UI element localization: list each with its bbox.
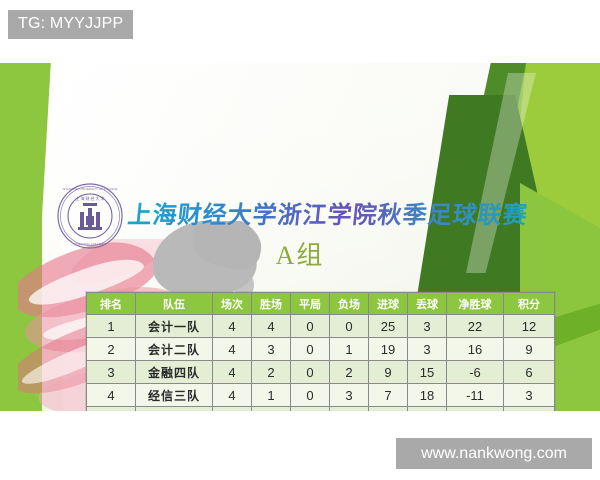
- cell-drawn: 0: [291, 338, 330, 361]
- cell-played: 4: [213, 361, 252, 384]
- page-title: 上海财经大学浙江学院秋季足球联赛: [126, 195, 530, 230]
- slide-header: SHANGHAI UNIVERSITY OF FINANCE ZHEJIANG …: [0, 63, 600, 183]
- column-header-team: 队伍: [136, 293, 213, 315]
- svg-text:上 海 财 经 大 学: 上 海 财 经 大 学: [76, 195, 105, 201]
- column-header-points: 积分: [504, 293, 555, 315]
- cell-points: 12: [504, 315, 555, 338]
- cell-lost: 3: [330, 384, 369, 407]
- cell-drawn: 0: [291, 384, 330, 407]
- presentation-slide: SHANGHAI UNIVERSITY OF FINANCE ZHEJIANG …: [0, 63, 600, 411]
- cell-points: 3: [504, 384, 555, 407]
- cell-won: 2: [252, 361, 291, 384]
- cell-goals-for: 7: [369, 384, 408, 407]
- cell-rank: 1: [87, 315, 136, 338]
- cell-played: 4: [213, 338, 252, 361]
- cell-won: 0: [252, 407, 291, 412]
- cell-played: 4: [213, 384, 252, 407]
- cell-won: 1: [252, 384, 291, 407]
- cell-team: 会计一队: [136, 315, 213, 338]
- column-header-lost: 负场: [330, 293, 369, 315]
- column-header-played: 场次: [213, 293, 252, 315]
- cell-goals-against: 3: [408, 338, 447, 361]
- table-header-row: 排名 队伍 场次 胜场 平局 负场 进球 丢球 净胜球 积分: [87, 293, 555, 315]
- cell-points: 9: [504, 338, 555, 361]
- cell-goals-for: 9: [369, 361, 408, 384]
- cell-goals-against: 24: [408, 407, 447, 412]
- cell-goals-against: 18: [408, 384, 447, 407]
- table-row: 2 会计二队 4 3 0 1 19 3 16 9: [87, 338, 555, 361]
- cell-goal-difference: -21: [447, 407, 504, 412]
- table-row: 3 金融四队 4 2 0 2 9 15 -6 6: [87, 361, 555, 384]
- cell-rank: 3: [87, 361, 136, 384]
- column-header-won: 胜场: [252, 293, 291, 315]
- column-header-goals-for: 进球: [369, 293, 408, 315]
- tg-tag-badge: TG: MYYJJPP: [8, 10, 133, 39]
- cell-goal-difference: -11: [447, 384, 504, 407]
- table-row: 4 经信三队 4 1 0 3 7 18 -11 3: [87, 384, 555, 407]
- cell-drawn: 0: [291, 361, 330, 384]
- cell-team: 金融四队: [136, 361, 213, 384]
- cell-goal-difference: -6: [447, 361, 504, 384]
- column-header-drawn: 平局: [291, 293, 330, 315]
- cell-played: 4: [213, 315, 252, 338]
- cell-lost: 1: [330, 338, 369, 361]
- cell-points: 0: [504, 407, 555, 412]
- cell-drawn: 0: [291, 315, 330, 338]
- cell-drawn: 0: [291, 407, 330, 412]
- standings-table-body: 1 会计一队 4 4 0 0 25 3 22 12 2 会计二队 4 3 0 1…: [87, 315, 555, 412]
- cell-team: 经信三队: [136, 384, 213, 407]
- cell-goals-against: 15: [408, 361, 447, 384]
- site-watermark: www.nankwong.com: [396, 438, 592, 469]
- group-subtitle: A组: [0, 235, 600, 272]
- cell-lost: 4: [330, 407, 369, 412]
- cell-goals-against: 3: [408, 315, 447, 338]
- cell-goals-for: 19: [369, 338, 408, 361]
- column-header-goal-difference: 净胜球: [447, 293, 504, 315]
- cell-won: 4: [252, 315, 291, 338]
- svg-text:SHANGHAI UNIVERSITY OF FINANCE: SHANGHAI UNIVERSITY OF FINANCE: [62, 187, 117, 191]
- table-row: 5 工管四队 4 0 0 4 3 24 -21 0: [87, 407, 555, 412]
- column-header-goals-against: 丢球: [408, 293, 447, 315]
- cell-played: 4: [213, 407, 252, 412]
- cell-rank: 2: [87, 338, 136, 361]
- cell-goal-difference: 22: [447, 315, 504, 338]
- cell-rank: 4: [87, 384, 136, 407]
- standings-table: 排名 队伍 场次 胜场 平局 负场 进球 丢球 净胜球 积分 1 会计一队 4 …: [86, 292, 555, 411]
- cell-lost: 0: [330, 315, 369, 338]
- cell-goals-for: 25: [369, 315, 408, 338]
- cell-goal-difference: 16: [447, 338, 504, 361]
- cell-won: 3: [252, 338, 291, 361]
- cell-rank: 5: [87, 407, 136, 412]
- cell-team: 工管四队: [136, 407, 213, 412]
- cell-lost: 2: [330, 361, 369, 384]
- cell-team: 会计二队: [136, 338, 213, 361]
- cell-points: 6: [504, 361, 555, 384]
- cell-goals-for: 3: [369, 407, 408, 412]
- table-row: 1 会计一队 4 4 0 0 25 3 22 12: [87, 315, 555, 338]
- column-header-rank: 排名: [87, 293, 136, 315]
